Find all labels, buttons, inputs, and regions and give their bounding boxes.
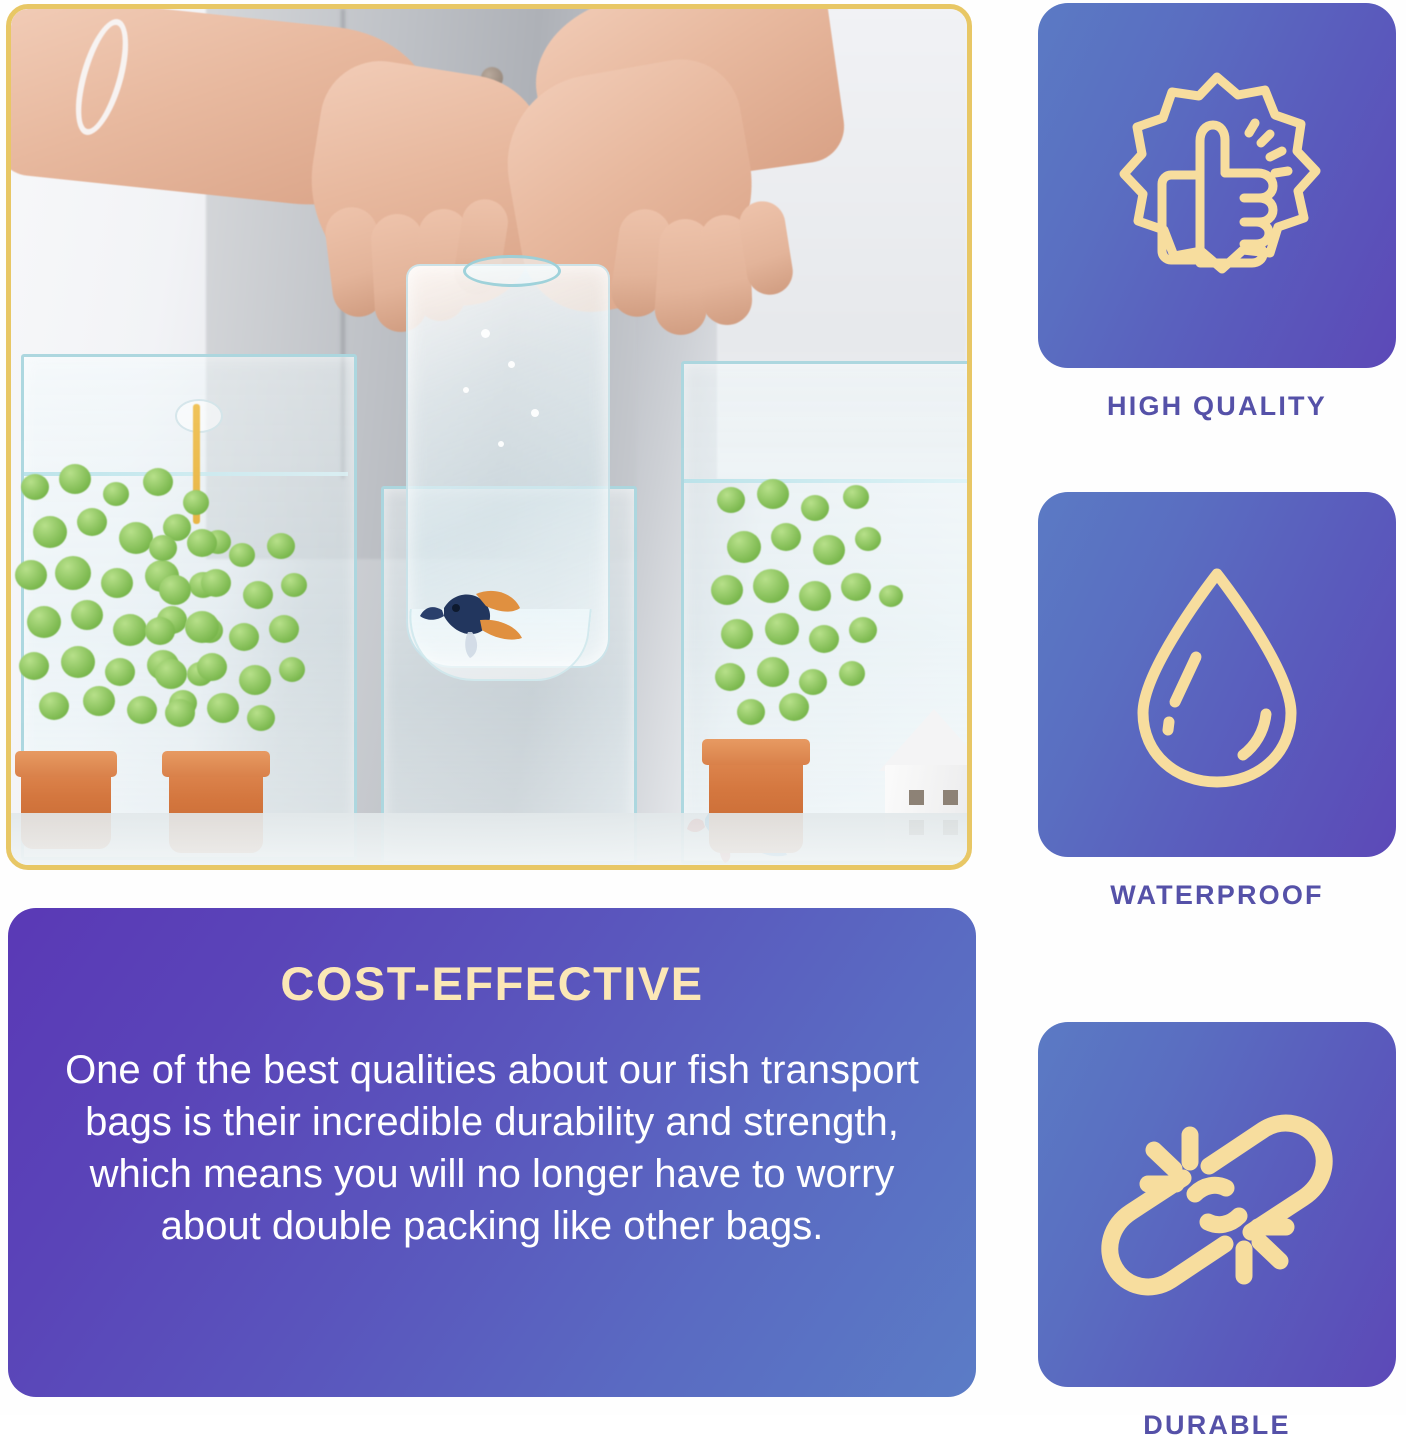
feature-waterproof: WATERPROOF [1038,492,1396,911]
betta-fish-orange [414,564,532,660]
table-surface [11,813,967,865]
fish-transport-bag-opening [463,255,561,287]
house-window [943,790,958,805]
cost-effective-panel: COST-EFFECTIVE One of the best qualities… [8,908,976,1397]
bag-bubble [531,409,539,417]
bag-bubble [463,387,469,393]
feature-label-waterproof: WATERPROOF [1038,880,1396,911]
chain-link-icon [1092,1080,1342,1330]
bag-bubble [498,441,504,447]
water-drop-icon [1092,550,1342,800]
bag-bubble [508,361,515,368]
house-window [909,790,924,805]
bag-bubble [481,329,490,338]
feature-card-high-quality [1038,3,1396,368]
cost-effective-title: COST-EFFECTIVE [44,958,940,1010]
feature-label-high-quality: HIGH QUALITY [1038,391,1396,422]
feature-high-quality: HIGH QUALITY [1038,3,1396,422]
infographic-page: COST-EFFECTIVE One of the best qualities… [0,0,1406,1415]
product-photo-frame [6,4,972,870]
cost-effective-body: One of the best qualities about our fish… [44,1044,940,1252]
feature-card-waterproof [1038,492,1396,857]
thumbs-up-badge-icon [1092,61,1342,311]
plant-left-2 [141,529,321,779]
house-roof [879,709,967,771]
plant-right [703,479,903,749]
feature-durable: DURABLE [1038,1022,1396,1441]
product-photo [11,9,967,865]
feature-card-durable [1038,1022,1396,1387]
